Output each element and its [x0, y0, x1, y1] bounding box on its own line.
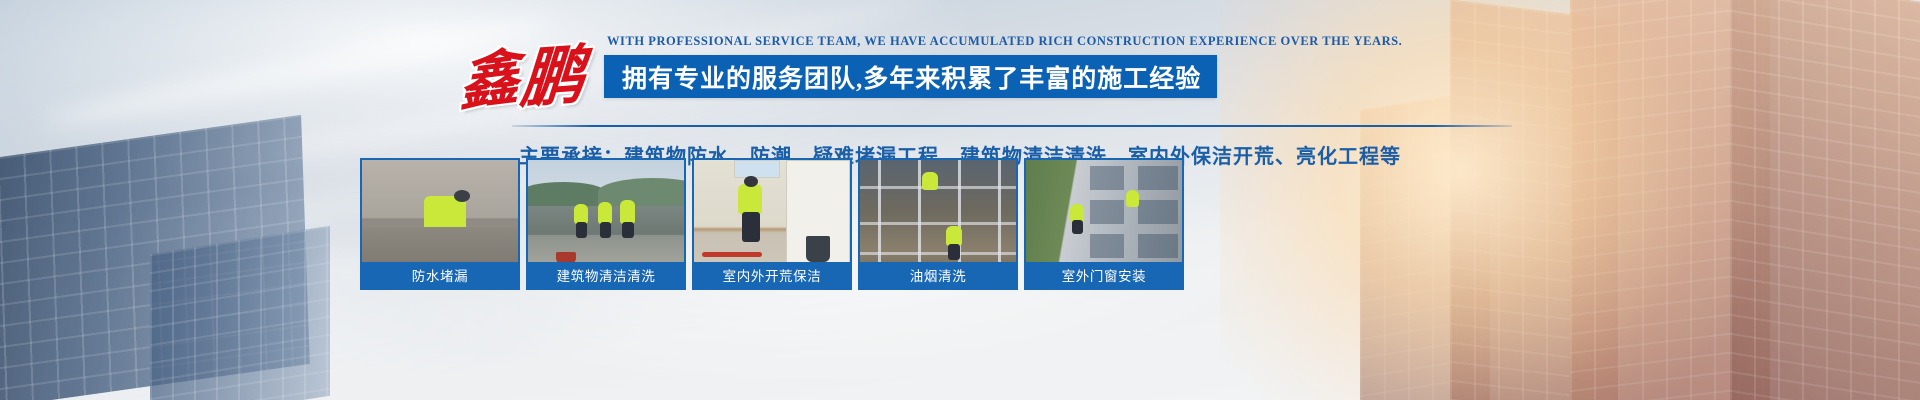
english-tagline: WITH PROFESSIONAL SERVICE TEAM, WE HAVE … — [607, 34, 1402, 49]
thumbnail-caption: 防水堵漏 — [362, 262, 518, 288]
thumbnail-caption: 室内外开荒保洁 — [694, 262, 850, 288]
thumbnail-item[interactable]: 建筑物清洁清洗 — [526, 158, 686, 290]
headline-text: 拥有专业的服务团队,多年来积累了丰富的施工经验 — [622, 59, 1201, 95]
thumbnail-caption: 室外门窗安装 — [1026, 262, 1182, 288]
thumbnail-item[interactable]: 室外门窗安装 — [1024, 158, 1184, 290]
logo-char-peng: 鹏 — [518, 23, 588, 120]
horizontal-divider — [512, 125, 1512, 127]
thumbnail-strip: 防水堵漏 建筑物清洁清洗 — [360, 158, 1184, 290]
company-logo[interactable]: 鑫 鹏 — [455, 22, 605, 102]
thumbnail-item[interactable]: 油烟清洗 — [858, 158, 1018, 290]
promo-banner: 鑫 鹏 WITH PROFESSIONAL SERVICE TEAM, WE H… — [0, 0, 1920, 400]
banner-content: 鑫 鹏 WITH PROFESSIONAL SERVICE TEAM, WE H… — [0, 0, 1920, 400]
headline-bar: 拥有专业的服务团队,多年来积累了丰富的施工经验 — [604, 55, 1217, 98]
thumbnail-caption: 油烟清洗 — [860, 262, 1016, 288]
logo-char-xin: 鑫 — [458, 28, 519, 123]
thumbnail-caption: 建筑物清洁清洗 — [528, 262, 684, 288]
thumbnail-item[interactable]: 室内外开荒保洁 — [692, 158, 852, 290]
thumbnail-item[interactable]: 防水堵漏 — [360, 158, 520, 290]
